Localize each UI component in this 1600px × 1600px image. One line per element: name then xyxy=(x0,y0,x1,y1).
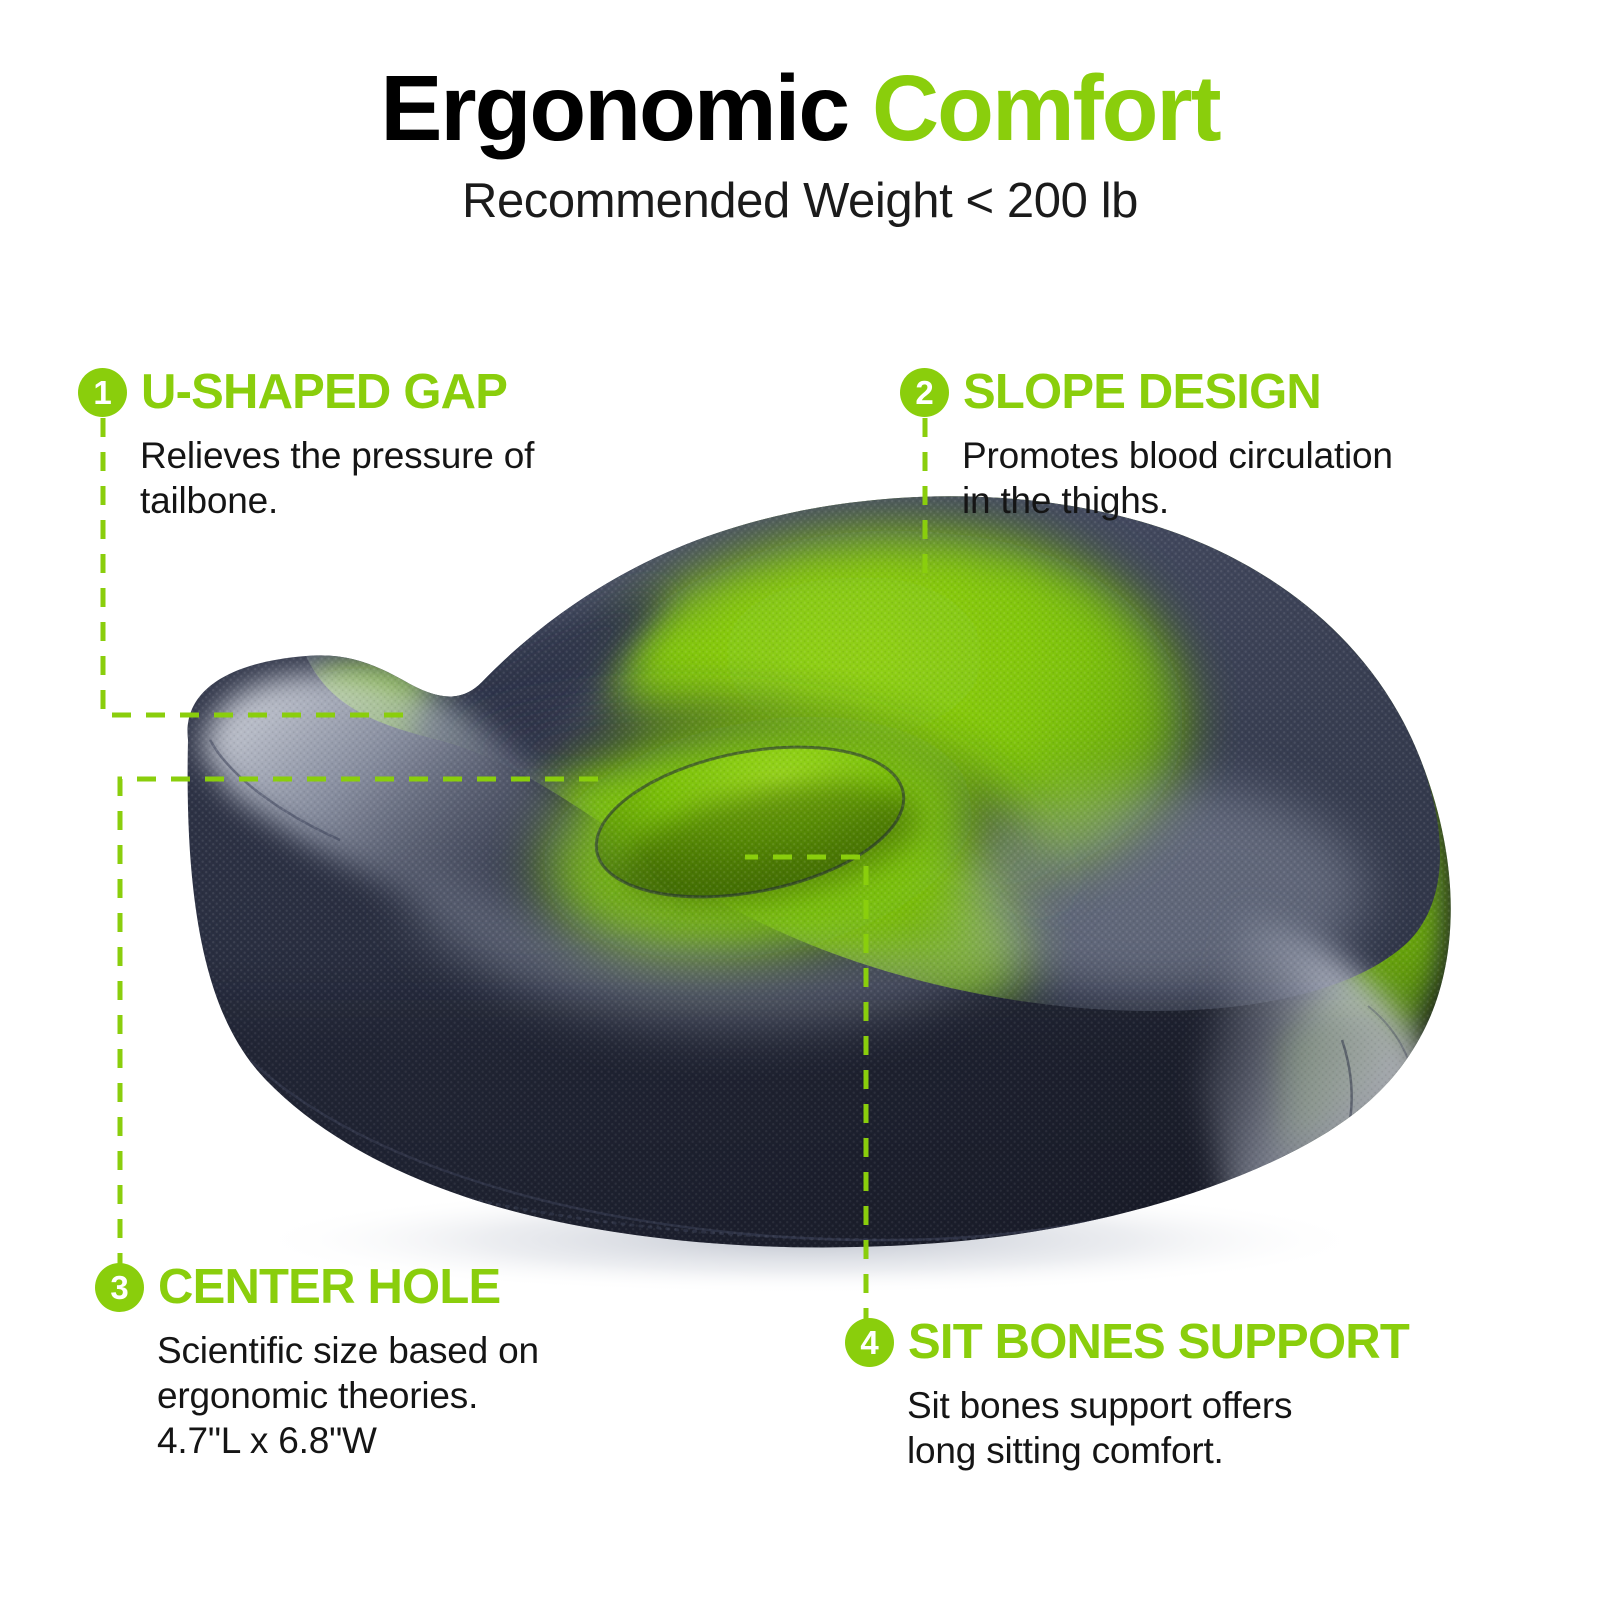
feature-4-heading: 4 SIT BONES SUPPORT xyxy=(845,1318,1409,1367)
cushion-body xyxy=(110,440,1510,1320)
page-subtitle: Recommended Weight < 200 lb xyxy=(0,173,1600,229)
feature-callout-1: 1 U-SHAPED GAP Relieves the pressure of … xyxy=(78,368,534,523)
title-primary-text: Ergonomic xyxy=(380,56,848,160)
feature-3-badge: 3 xyxy=(95,1263,144,1312)
cushion-illustration xyxy=(110,440,1510,1320)
feature-2-heading: 2 SLOPE DESIGN xyxy=(900,368,1393,417)
feature-1-description: Relieves the pressure of tailbone. xyxy=(140,433,534,523)
feature-3-title: CENTER HOLE xyxy=(158,1263,500,1312)
feature-callout-3: 3 CENTER HOLE Scientific size based on e… xyxy=(95,1263,539,1463)
feature-3-desc-line-1: Scientific size based on xyxy=(157,1328,539,1373)
feature-2-desc-line-2: in the thighs. xyxy=(962,478,1393,523)
feature-1-desc-line-2: tailbone. xyxy=(140,478,534,523)
feature-1-desc-line-1: Relieves the pressure of xyxy=(140,433,534,478)
feature-4-badge: 4 xyxy=(845,1318,894,1367)
title-accent-text: Comfort xyxy=(872,56,1220,160)
feature-4-desc-line-1: Sit bones support offers xyxy=(907,1383,1409,1428)
product-image xyxy=(110,440,1510,1320)
feature-4-desc-line-2: long sitting comfort. xyxy=(907,1428,1409,1473)
header: Ergonomic Comfort Recommended Weight < 2… xyxy=(0,62,1600,229)
feature-1-title: U-SHAPED GAP xyxy=(141,368,507,417)
feature-3-desc-line-2: ergonomic theories. xyxy=(157,1373,539,1418)
feature-callout-2: 2 SLOPE DESIGN Promotes blood circulatio… xyxy=(900,368,1393,523)
feature-3-heading: 3 CENTER HOLE xyxy=(95,1263,539,1312)
page-title: Ergonomic Comfort xyxy=(0,62,1600,155)
feature-1-heading: 1 U-SHAPED GAP xyxy=(78,368,534,417)
feature-2-desc-line-1: Promotes blood circulation xyxy=(962,433,1393,478)
feature-callout-4: 4 SIT BONES SUPPORT Sit bones support of… xyxy=(845,1318,1409,1473)
title-space xyxy=(848,56,872,160)
feature-2-title: SLOPE DESIGN xyxy=(963,368,1321,417)
feature-3-description: Scientific size based on ergonomic theor… xyxy=(157,1328,539,1463)
feature-2-description: Promotes blood circulation in the thighs… xyxy=(962,433,1393,523)
feature-3-dimensions: 4.7"L x 6.8"W xyxy=(157,1418,539,1463)
feature-4-title: SIT BONES SUPPORT xyxy=(908,1318,1409,1367)
feature-4-description: Sit bones support offers long sitting co… xyxy=(907,1383,1409,1473)
feature-2-badge: 2 xyxy=(900,368,949,417)
feature-1-badge: 1 xyxy=(78,368,127,417)
